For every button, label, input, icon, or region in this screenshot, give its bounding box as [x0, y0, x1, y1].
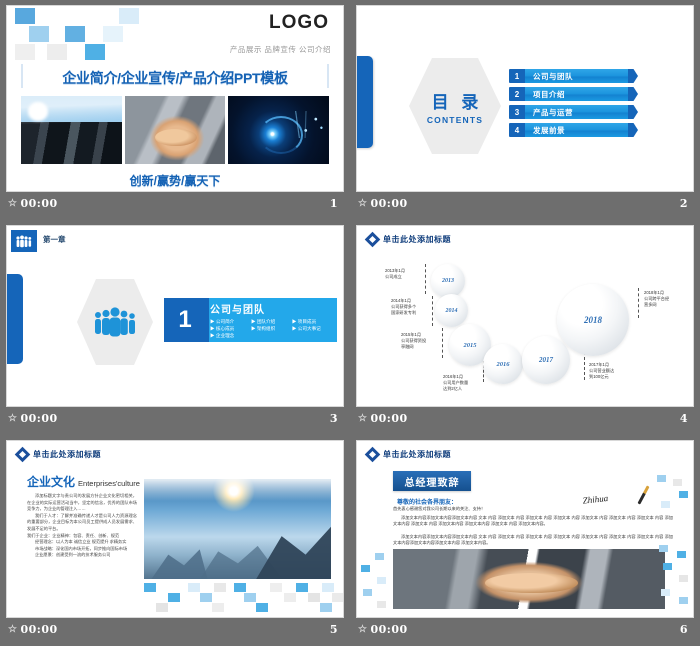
- star-icon[interactable]: ☆: [358, 198, 367, 209]
- connector-line: [584, 352, 585, 380]
- slide-3[interactable]: 第一章 1 公司与团队: [6, 225, 344, 407]
- mosaic-decoration: [657, 545, 691, 607]
- timer-label: 00:00: [20, 412, 57, 425]
- slide-title: 单击此处添加标题: [383, 449, 451, 460]
- signature: Zhihua: [582, 490, 634, 513]
- culture-heading-cn: 企业文化: [27, 473, 75, 490]
- culture-heading: 企业文化 Enterprises'culture: [27, 473, 140, 490]
- timeline-bubble: 2013: [431, 264, 465, 298]
- star-icon[interactable]: ☆: [358, 413, 367, 424]
- mosaic-decoration: [144, 583, 344, 613]
- contents-item[interactable]: 2 项目介绍: [509, 87, 629, 101]
- slide-6[interactable]: 单击此处添加标题 总经理致辞 尊敬的社会各界朋友： 首先衷心感谢您对我公司长期以…: [356, 440, 694, 618]
- slide-cell-3[interactable]: 第一章 1 公司与团队: [0, 220, 350, 435]
- timeline-bubble: 2016: [483, 344, 523, 384]
- speech-banner: 总经理致辞: [393, 471, 471, 491]
- mosaic-decoration: [359, 553, 393, 611]
- contents-item-number: 1: [509, 69, 525, 83]
- timeline-caption: 2017年1月 公司营业额达 到100亿元: [589, 362, 633, 380]
- culture-heading-en: Enterprises'culture: [78, 479, 140, 488]
- contents-title-en: CONTENTS: [427, 115, 483, 125]
- slide-footer-5: ☆ 00:00 5: [6, 618, 344, 640]
- contents-item-label: 发展前景: [525, 123, 629, 137]
- star-icon[interactable]: ☆: [8, 413, 17, 424]
- culture-paragraph: 企业愿景：创建受到一流的技术服务公司: [27, 552, 137, 559]
- section-bullet-item: ▶ 公司大事记: [292, 325, 333, 332]
- slide1-title: 企业简介/企业宣传/产品介绍PPT模板: [7, 68, 343, 88]
- timer-label: 00:00: [370, 623, 407, 636]
- slide-title: 单击此处添加标题: [383, 234, 451, 245]
- slide-cell-2[interactable]: 目 录 CONTENTS 1 公司与团队 2 项目介绍 3 产品与运营 4: [350, 0, 700, 220]
- timeline-caption: 2018年1月 公司跨平台经 营多网: [644, 290, 688, 308]
- slide-title: 单击此处添加标题: [33, 449, 101, 460]
- section-bullet-item: ▶ 核心成员: [210, 325, 251, 332]
- connector-line: [638, 288, 639, 318]
- star-icon[interactable]: ☆: [8, 198, 17, 209]
- contents-item-number: 3: [509, 105, 525, 119]
- slide-footer-4: ☆ 00:00 4: [356, 407, 694, 429]
- slide-footer-1: ☆ 00:00 1: [6, 192, 344, 214]
- people-group-icon-svg: [93, 307, 137, 337]
- contents-item-label: 公司与团队: [525, 69, 629, 83]
- star-icon[interactable]: ☆: [358, 624, 367, 635]
- side-tab-decoration: [6, 274, 23, 364]
- people-group-icon: [11, 230, 37, 252]
- slide-footer-6: ☆ 00:00 6: [356, 618, 694, 640]
- page-number: 2: [680, 197, 688, 210]
- diamond-icon: [365, 447, 381, 463]
- contents-hexagon-label: 目 录 CONTENTS: [409, 58, 501, 154]
- tech-globe-photo: [228, 96, 329, 164]
- star-icon[interactable]: ☆: [8, 624, 17, 635]
- culture-body: 添加标题文字与贵公司的发展方针企业文化密切相关，在企业的实际运营活动当中，坚定的…: [27, 493, 137, 559]
- page-number: 5: [330, 623, 338, 636]
- page-number: 1: [330, 197, 338, 210]
- side-tab-decoration: [356, 56, 373, 148]
- mountain-sunrise-photo: [144, 479, 331, 579]
- speech-paragraph: 添加文本内容添加文本内容添加文本内容 文本 内容 添加文本 内容 添加文本 内容…: [393, 534, 673, 547]
- slide-header: 单击此处添加标题: [17, 449, 101, 460]
- slide-5[interactable]: 单击此处添加标题 企业文化 Enterprises'culture 添加标题文字…: [6, 440, 344, 618]
- skyscraper-photo: [21, 96, 122, 164]
- timeline-bubble: 2014: [435, 294, 468, 327]
- timeline-bubble: 2017: [522, 336, 570, 384]
- section-bullet-item: ▶ 企业理念: [210, 332, 251, 339]
- slide-1[interactable]: LOGO 产品展示 品牌宣传 公司介绍 企业简介/企业宣传/产品介绍PPT模板 …: [6, 5, 344, 192]
- diamond-icon: [15, 447, 31, 463]
- section-panel: 1 公司与团队 ▶ 公司简介 ▶ 团队介绍 ▶ 项目成员 ▶ 核心成员 ▶ 架构…: [164, 298, 337, 342]
- contents-list: 1 公司与团队 2 项目介绍 3 产品与运营 4 发展前景: [509, 69, 629, 141]
- diamond-icon: [365, 232, 381, 248]
- page-number: 6: [680, 623, 688, 636]
- culture-paragraph: 添加标题文字与贵公司的发展方针企业文化密切相关，在企业的实际运营活动当中，坚定的…: [27, 493, 137, 513]
- section-bullet-item: ▶ 项目成员: [292, 318, 333, 325]
- contents-title-cn: 目 录: [428, 88, 483, 113]
- timeline-bubble: 2018: [557, 284, 629, 356]
- timer-label: 00:00: [20, 623, 57, 636]
- timer-label: 00:00: [20, 197, 57, 210]
- mosaic-decoration: [7, 6, 152, 58]
- culture-paragraph: 我们于人才：了解并准确传递人才是公司人力资源理念的重要部分，企业目标为本公司员工…: [27, 513, 137, 533]
- speech-paragraph: 添加文本内容添加文本内容添加文本内容 文本 内容 添加文本 内容 添加文本 内容…: [393, 515, 673, 528]
- section-title: 公司与团队: [210, 301, 333, 316]
- section-bullet-item: ▶ 架构组织: [251, 325, 292, 332]
- handshake-photo: [125, 96, 226, 164]
- section-bullet-item: ▶ 公司简介: [210, 318, 251, 325]
- slide-cell-5[interactable]: 单击此处添加标题 企业文化 Enterprises'culture 添加标题文字…: [0, 435, 350, 646]
- slide-4[interactable]: 单击此处添加标题 2013 2014 2015 2016 2017 2018 2…: [356, 225, 694, 407]
- slide-cell-1[interactable]: LOGO 产品展示 品牌宣传 公司介绍 企业简介/企业宣传/产品介绍PPT模板 …: [0, 0, 350, 220]
- contents-item-label: 项目介绍: [525, 87, 629, 101]
- handshake-worldmap-photo: [393, 549, 665, 609]
- slide-thumbnail-grid: LOGO 产品展示 品牌宣传 公司介绍 企业简介/企业宣传/产品介绍PPT模板 …: [0, 0, 700, 646]
- contents-item[interactable]: 4 发展前景: [509, 123, 629, 137]
- timeline-caption: 2015年1月 公司获得资投 亭融网: [401, 332, 443, 350]
- section-bullet-list: ▶ 公司简介 ▶ 团队介绍 ▶ 项目成员 ▶ 核心成员 ▶ 架构组织 ▶ 公司大…: [210, 318, 333, 339]
- slide-header: 单击此处添加标题: [367, 234, 451, 245]
- slide-cell-6[interactable]: 单击此处添加标题 总经理致辞 尊敬的社会各界朋友： 首先衷心感谢您对我公司长期以…: [350, 435, 700, 646]
- timer-label: 00:00: [370, 197, 407, 210]
- pen-icon: [637, 485, 649, 504]
- slide1-tagline: 创新/赢势/赢天下: [7, 172, 343, 189]
- people-group-icon-svg: [15, 235, 33, 248]
- contents-item-number: 2: [509, 87, 525, 101]
- contents-item[interactable]: 1 公司与团队: [509, 69, 629, 83]
- chapter-label: 第一章: [43, 234, 66, 245]
- mosaic-decoration: [657, 475, 689, 519]
- slide-header: 单击此处添加标题: [367, 449, 451, 460]
- people-group-icon: [77, 279, 153, 365]
- page-number: 3: [330, 412, 338, 425]
- timeline-caption: 2014年1月 公司获得多个 国家研发专利: [391, 298, 433, 316]
- contents-item-number: 4: [509, 123, 525, 137]
- section-bullet-item: ▶ 团队介绍: [251, 318, 292, 325]
- slide-2[interactable]: 目 录 CONTENTS 1 公司与团队 2 项目介绍 3 产品与运营 4: [356, 5, 694, 192]
- timeline-caption: 2016年1月 公司用户数量 达到2亿人: [443, 374, 487, 392]
- slide-cell-4[interactable]: 单击此处添加标题 2013 2014 2015 2016 2017 2018 2…: [350, 220, 700, 435]
- photo-strip: [21, 96, 329, 164]
- culture-paragraph: 经营理念：以人为本 诚信立业 规范提升 求精务实: [27, 539, 137, 546]
- slide-footer-2: ☆ 00:00 2: [356, 192, 694, 214]
- section-number: 1: [164, 298, 206, 342]
- speech-greeting: 尊敬的社会各界朋友：: [397, 497, 457, 506]
- contents-item-label: 产品与运营: [525, 105, 629, 119]
- slide-footer-3: ☆ 00:00 3: [6, 407, 344, 429]
- page-number: 4: [680, 412, 688, 425]
- slide1-subtitle: 产品展示 品牌宣传 公司介绍: [230, 44, 331, 55]
- contents-item[interactable]: 3 产品与运营: [509, 105, 629, 119]
- logo-text: LOGO: [269, 12, 329, 34]
- timer-label: 00:00: [370, 412, 407, 425]
- timeline-caption: 2013年1月 公司成立: [385, 268, 427, 280]
- speech-greeting-sub: 首先衷心感谢您对我公司长期以来的关注、支持！: [393, 506, 485, 512]
